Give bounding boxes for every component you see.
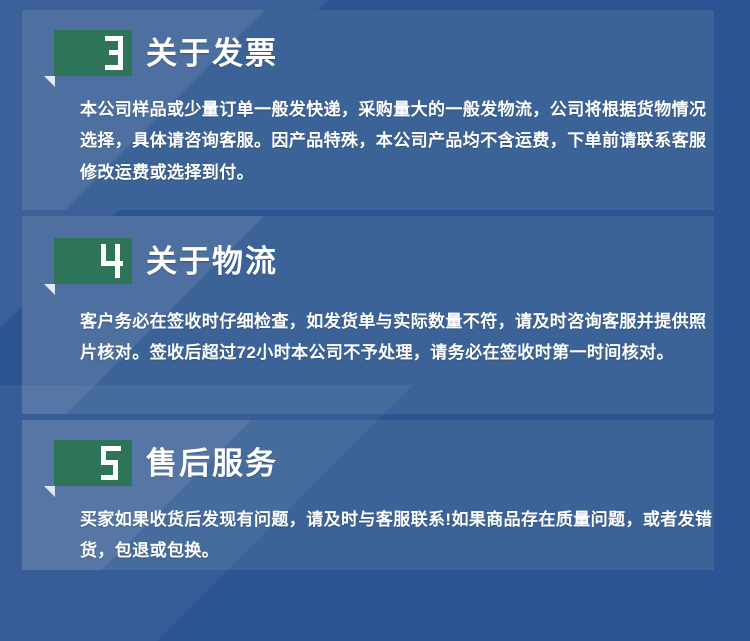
section-header: 售后服务 [54, 440, 278, 486]
section-body-text: 买家如果收货后发现有问题，请及时与客服联系!如果商品存在质量问题，或者发错货，包… [80, 504, 714, 567]
section-card-invoice: 关于发票 本公司样品或少量订单一般发快递，采购量大的一般发物流，公司将根据货物情… [22, 10, 714, 210]
badge-notch-icon [44, 284, 55, 295]
number-badge-4-icon [101, 244, 123, 278]
section-body-text: 本公司样品或少量订单一般发快递，采购量大的一般发物流，公司将根据货物情况选择，具… [80, 94, 714, 188]
section-header: 关于发票 [54, 30, 278, 76]
section-body-text: 客户务必在签收时仔细检查，如发货单与实际数量不符，请及时咨询客服并提供照片核对。… [80, 306, 714, 369]
section-title: 关于发票 [146, 38, 278, 69]
section-header: 关于物流 [54, 238, 278, 284]
number-badge [54, 30, 132, 76]
section-title: 售后服务 [146, 448, 278, 479]
number-badge-3-icon [101, 36, 123, 70]
number-badge [54, 238, 132, 284]
section-card-after-sales: 售后服务 买家如果收货后发现有问题，请及时与客服联系!如果商品存在质量问题，或者… [22, 420, 714, 570]
number-badge [54, 440, 132, 486]
promo-info-page: 关于发票 本公司样品或少量订单一般发快递，采购量大的一般发物流，公司将根据货物情… [0, 0, 750, 641]
badge-notch-icon [44, 486, 55, 497]
section-card-logistics: 关于物流 客户务必在签收时仔细检查，如发货单与实际数量不符，请及时咨询客服并提供… [22, 216, 714, 414]
number-badge-5-icon [101, 446, 123, 480]
badge-notch-icon [44, 76, 55, 87]
section-title: 关于物流 [146, 246, 278, 277]
